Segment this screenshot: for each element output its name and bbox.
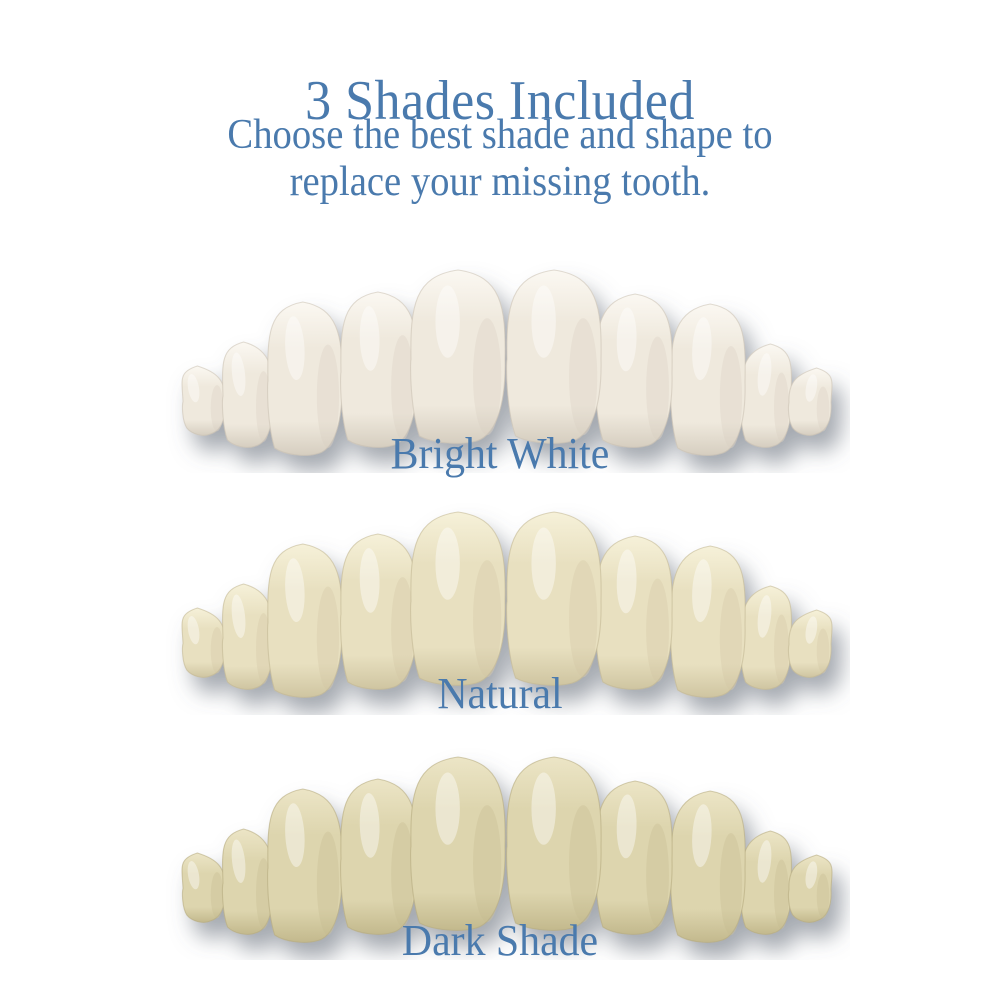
page-subtitle: Choose the best shade and shape to repla… <box>40 112 960 206</box>
shade-block-dark: Dark Shade <box>0 745 1000 966</box>
subtitle-line-1: Choose the best shade and shape to <box>40 112 960 159</box>
product-infographic: 3 Shades Included Choose the best shade … <box>0 0 1000 1000</box>
shade-block-natural: Natural <box>0 500 1000 719</box>
shade-label: Dark Shade <box>25 916 975 966</box>
dental-arch-container <box>0 500 1000 665</box>
dental-arch-container <box>0 745 1000 910</box>
shade-label: Natural <box>25 669 975 719</box>
dental-arch-container <box>0 258 1000 423</box>
shade-label: Bright White <box>25 429 975 479</box>
subtitle-line-2: replace your missing tooth. <box>40 159 960 206</box>
shade-block-bright-white: Bright White <box>0 258 1000 479</box>
